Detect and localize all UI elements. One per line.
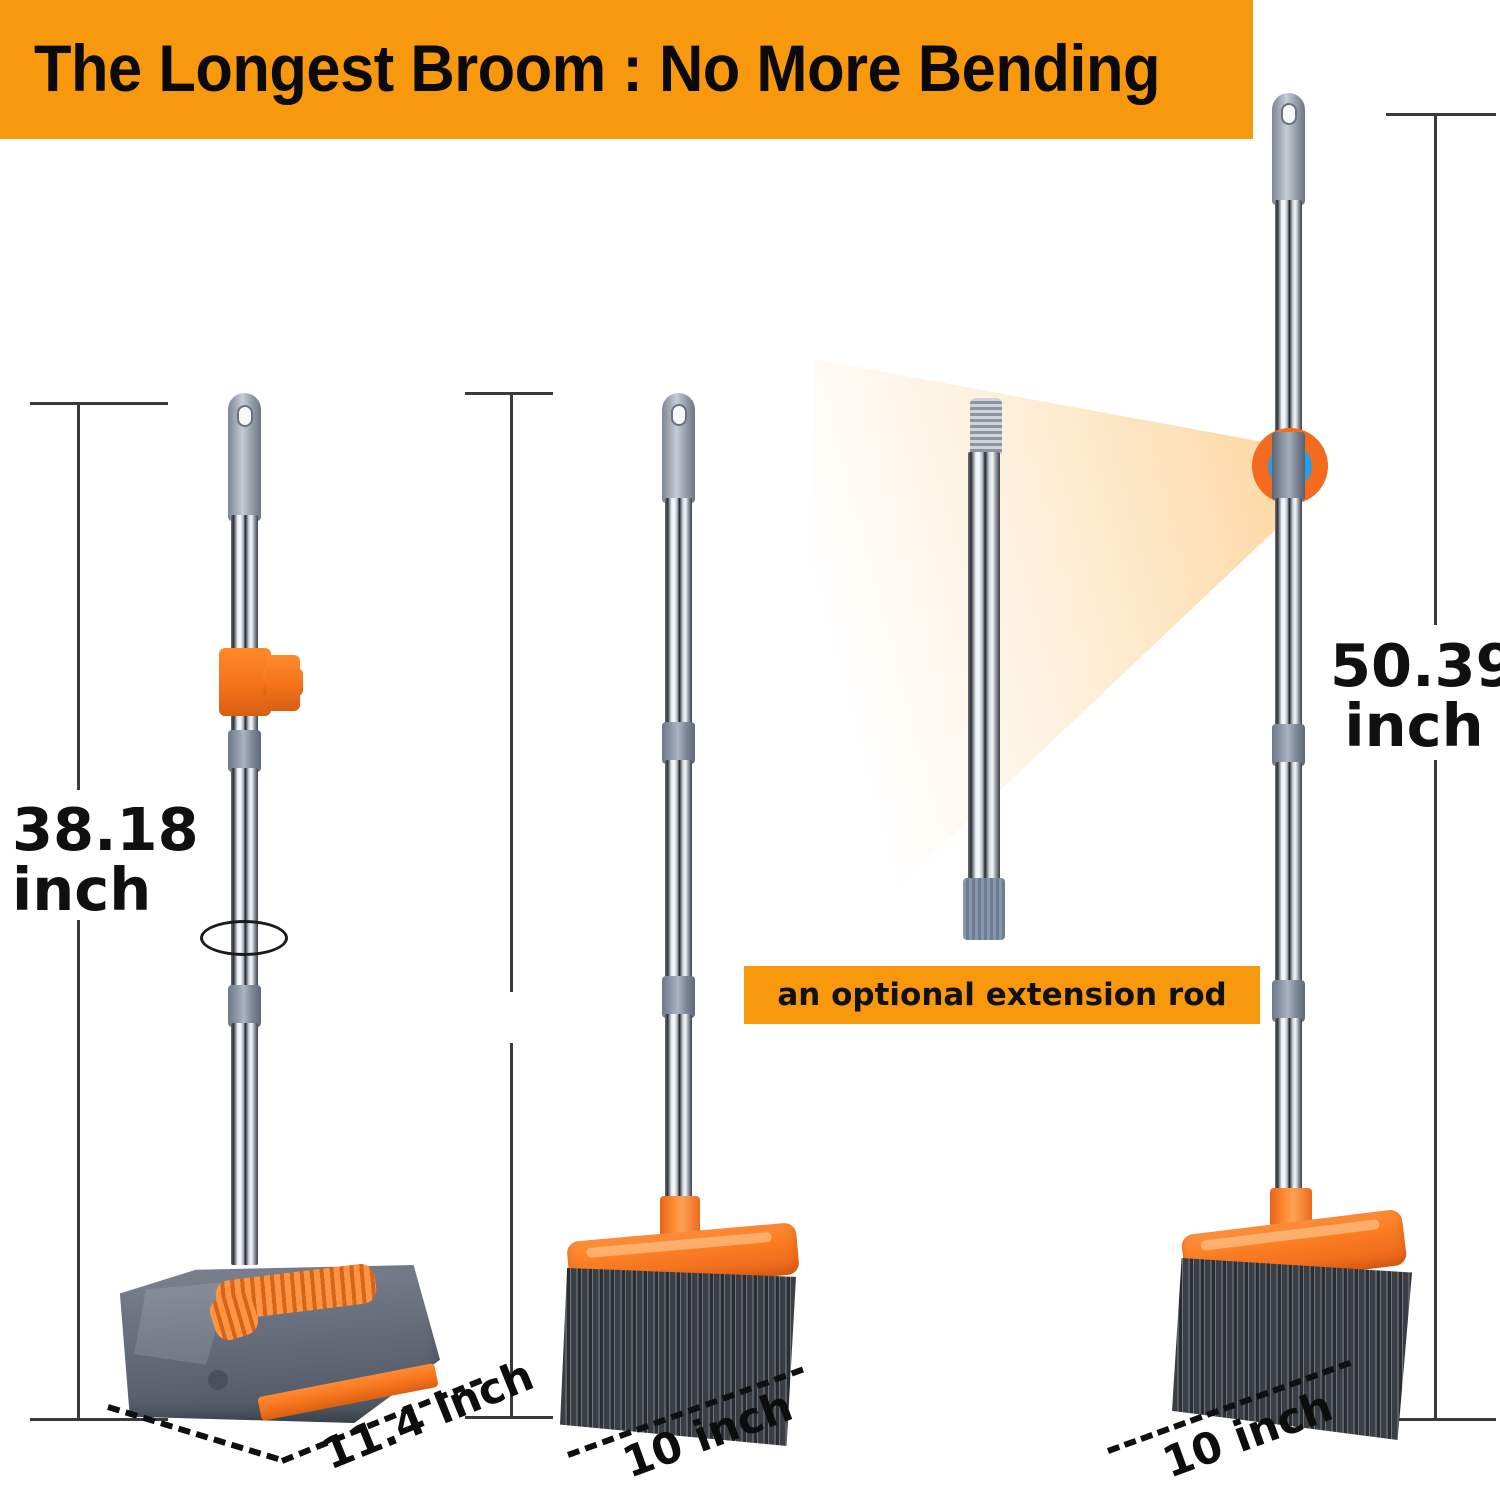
extension-rod-shaft [968,452,1000,882]
dimension-line-left-lower [77,920,80,1420]
dimension-tick-top-middle [465,392,553,395]
pole-section-1 [1275,200,1302,438]
pole-section-4 [1275,1018,1302,1204]
pole-section-3 [1275,762,1302,984]
hang-hole-icon [1281,103,1297,125]
pole-collar-1 [228,730,261,772]
dustpan-pivot-knob [208,1370,228,1390]
hang-hole-icon [671,404,687,426]
dimension-line-right-lower [1434,760,1437,1420]
header-banner: The Longest Broom : No More Bending [0,0,1253,139]
pole-section-2 [1275,498,1302,728]
dimension-label-50-inch: 50.39 inch [1330,636,1498,756]
infographic-canvas: The Longest Broom : No More Bending 38.1… [0,0,1500,1498]
extension-rod-thread [970,398,1002,454]
extension-rod-caption-text: an optional extension rod [777,977,1226,1013]
dimension-tick-top-right [1386,113,1496,116]
dimension-tick-bottom-right [1386,1418,1496,1421]
dustpan-clip-hook [266,655,300,711]
pole-lower [231,1023,258,1265]
extension-rod-caption-box: an optional extension rod [744,966,1260,1024]
joint-connector-sleeve [1272,432,1305,500]
pole-middle [231,768,258,990]
dimension-line-middle-upper [510,392,513,992]
pole-upper [665,498,692,726]
dimension-line-right-upper [1434,113,1437,625]
page-title: The Longest Broom : No More Bending [34,26,1131,110]
extension-rod-end-cap [963,878,1005,940]
dimension-tick-top-left [30,402,168,405]
pole-collar-2 [228,985,261,1027]
dimension-label-38-inch: 38.18 inch [12,800,202,920]
rotation-indicator-icon [200,920,288,956]
pole-middle [665,760,692,980]
pole-collar-2 [1272,980,1305,1022]
pole-collar-1 [662,722,695,764]
dimension-line-left-upper [77,402,80,790]
spotlight-beam-highlight [800,340,1300,980]
pole-lower [665,1014,692,1210]
hang-hole-icon [237,405,253,427]
pole-collar-1 [1272,724,1305,766]
pole-collar-2 [662,976,695,1018]
